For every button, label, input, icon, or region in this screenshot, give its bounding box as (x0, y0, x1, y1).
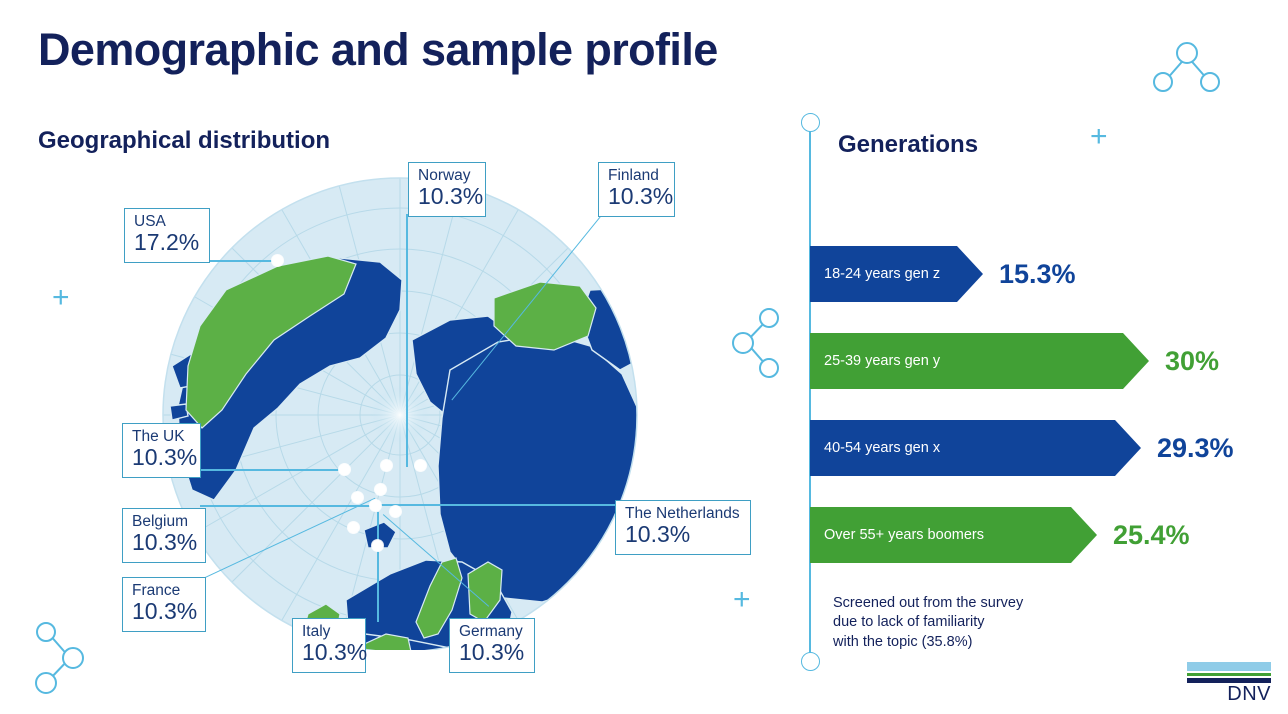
callout-country-value: 17.2% (134, 230, 200, 255)
generations-section-title: Generations (838, 131, 978, 159)
page-title: Demographic and sample profile (38, 24, 718, 76)
leader-line-uk (200, 469, 344, 471)
map-pin-germany (390, 506, 401, 517)
leader-line-netherlands (376, 504, 617, 506)
callout-country-value: 10.3% (625, 522, 741, 547)
callout-country-name: USA (134, 213, 200, 230)
callout-country-value: 10.3% (132, 599, 196, 624)
callout-country-value: 10.3% (418, 184, 476, 209)
generation-bar-boomers[interactable]: Over 55+ years boomers (810, 507, 1097, 563)
generation-bar-label: 40-54 years gen x (810, 440, 940, 456)
geographical-section-title: Geographical distribution (38, 127, 330, 155)
callout-country-name: Norway (418, 167, 476, 184)
generation-bar-row-boomers: Over 55+ years boomers 25.4% (810, 507, 1190, 563)
generation-bar-label: 18-24 years gen z (810, 266, 940, 282)
callout-country-value: 10.3% (132, 445, 191, 470)
callout-france[interactable]: France 10.3% (122, 577, 206, 632)
callout-belgium[interactable]: Belgium 10.3% (122, 508, 206, 563)
leader-line-norway (406, 214, 408, 467)
callout-country-name: France (132, 582, 196, 599)
plus-decoration-bottom: + (733, 585, 751, 615)
generation-bar-value: 30% (1165, 346, 1219, 377)
generation-bar-label: Over 55+ years boomers (810, 527, 984, 543)
generations-timeline-axis (809, 123, 811, 668)
plus-decoration-top-right: + (1090, 122, 1108, 152)
plus-decoration-left: + (52, 283, 70, 313)
map-pin-netherlands (375, 484, 386, 495)
map-pin-belgium (370, 500, 381, 511)
molecule-icon-top-right (1152, 38, 1222, 99)
generation-bar-value: 25.4% (1113, 520, 1190, 551)
dnv-logo-band-light-blue (1187, 662, 1271, 671)
callout-country-value: 10.3% (132, 530, 196, 555)
dnv-logo-bars (1187, 662, 1271, 683)
dnv-logo-text: DNV (1187, 684, 1271, 705)
callout-country-value: 10.3% (459, 640, 525, 665)
leader-line-usa (207, 260, 278, 262)
generation-bar-row-gen-z: 18-24 years gen z 15.3% (810, 246, 1076, 302)
timeline-dot-top (801, 113, 820, 132)
callout-country-value: 10.3% (302, 640, 356, 665)
molecule-icon-bottom-left (28, 618, 100, 703)
map-pin-ireland (352, 492, 363, 503)
callout-finland[interactable]: Finland 10.3% (598, 162, 675, 217)
map-pin-finland (415, 460, 426, 471)
generation-bar-row-gen-y: 25-39 years gen y 30% (810, 333, 1219, 389)
generation-bar-value: 15.3% (999, 259, 1076, 290)
callout-country-name: Germany (459, 623, 525, 640)
callout-country-name: The Netherlands (625, 505, 741, 522)
callout-country-name: Finland (608, 167, 665, 184)
callout-the-netherlands[interactable]: The Netherlands 10.3% (615, 500, 751, 555)
generation-bar-label: 25-39 years gen y (810, 353, 940, 369)
leader-line-belgium (200, 505, 380, 507)
callout-country-value: 10.3% (608, 184, 665, 209)
callout-norway[interactable]: Norway 10.3% (408, 162, 486, 217)
generation-bar-gen-y[interactable]: 25-39 years gen y (810, 333, 1149, 389)
generation-bar-gen-z[interactable]: 18-24 years gen z (810, 246, 983, 302)
callout-country-name: The UK (132, 428, 191, 445)
generation-bar-row-gen-x: 40-54 years gen x 29.3% (810, 420, 1234, 476)
map-pin-italy (372, 540, 383, 551)
generation-bar-value: 29.3% (1157, 433, 1234, 464)
callout-the-uk[interactable]: The UK 10.3% (122, 423, 201, 478)
molecule-icon-center-right (728, 305, 786, 388)
callout-country-name: Belgium (132, 513, 196, 530)
callout-usa[interactable]: USA 17.2% (124, 208, 210, 263)
generation-bar-gen-x[interactable]: 40-54 years gen x (810, 420, 1141, 476)
leader-line-italy (377, 512, 379, 622)
callout-italy[interactable]: Italy 10.3% (292, 618, 366, 673)
map-pin-usa (272, 255, 283, 266)
map-pin-france (348, 522, 359, 533)
map-pin-norway (381, 460, 392, 471)
world-globe-map (150, 170, 650, 650)
callout-country-name: Italy (302, 623, 356, 640)
dnv-logo: DNV (1187, 662, 1271, 705)
slide-canvas: Demographic and sample profile + + + (0, 0, 1288, 714)
screened-out-note: Screened out from the survey due to lack… (833, 594, 1023, 652)
timeline-dot-bottom (801, 652, 820, 671)
callout-germany[interactable]: Germany 10.3% (449, 618, 535, 673)
map-pin-uk (339, 464, 350, 475)
